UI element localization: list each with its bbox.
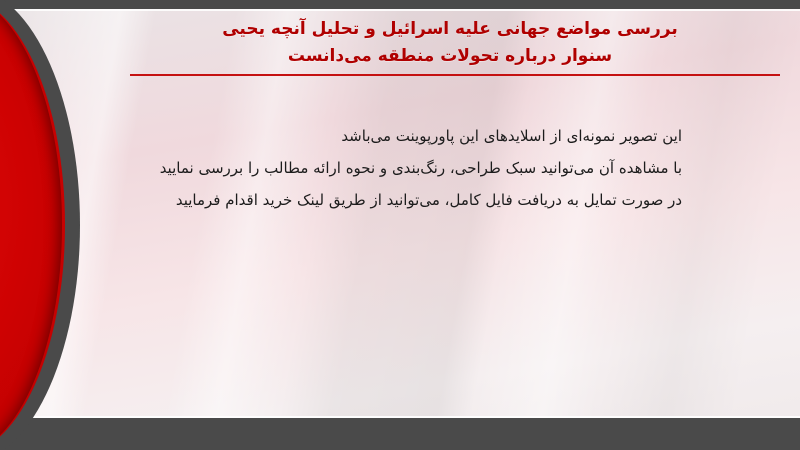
slide-title-line-1: بررسی مواضع جهانی علیه اسرائیل و تحلیل آ… — [120, 16, 780, 43]
title-underline-rule — [130, 74, 780, 76]
top-frame-highlight — [14, 9, 800, 11]
body-line-2: با مشاهده آن می‌توانید سبک طراحی، رنگ‌بن… — [72, 152, 682, 184]
slide-title: بررسی مواضع جهانی علیه اسرائیل و تحلیل آ… — [120, 16, 780, 70]
body-line-3: در صورت تمایل به دریافت فایل کامل، می‌تو… — [72, 184, 682, 216]
body-line-1: این تصویر نمونه‌ای از اسلایدهای این پاور… — [72, 120, 682, 152]
top-frame-band — [0, 0, 800, 9]
bottom-frame-band — [0, 418, 800, 450]
presentation-slide: بررسی مواضع جهانی علیه اسرائیل و تحلیل آ… — [0, 0, 800, 450]
slide-title-line-2: سنوار درباره تحولات منطقه می‌دانست — [120, 43, 780, 70]
bottom-frame-highlight — [0, 416, 800, 418]
slide-body-text: این تصویر نمونه‌ای از اسلایدهای این پاور… — [72, 120, 682, 216]
